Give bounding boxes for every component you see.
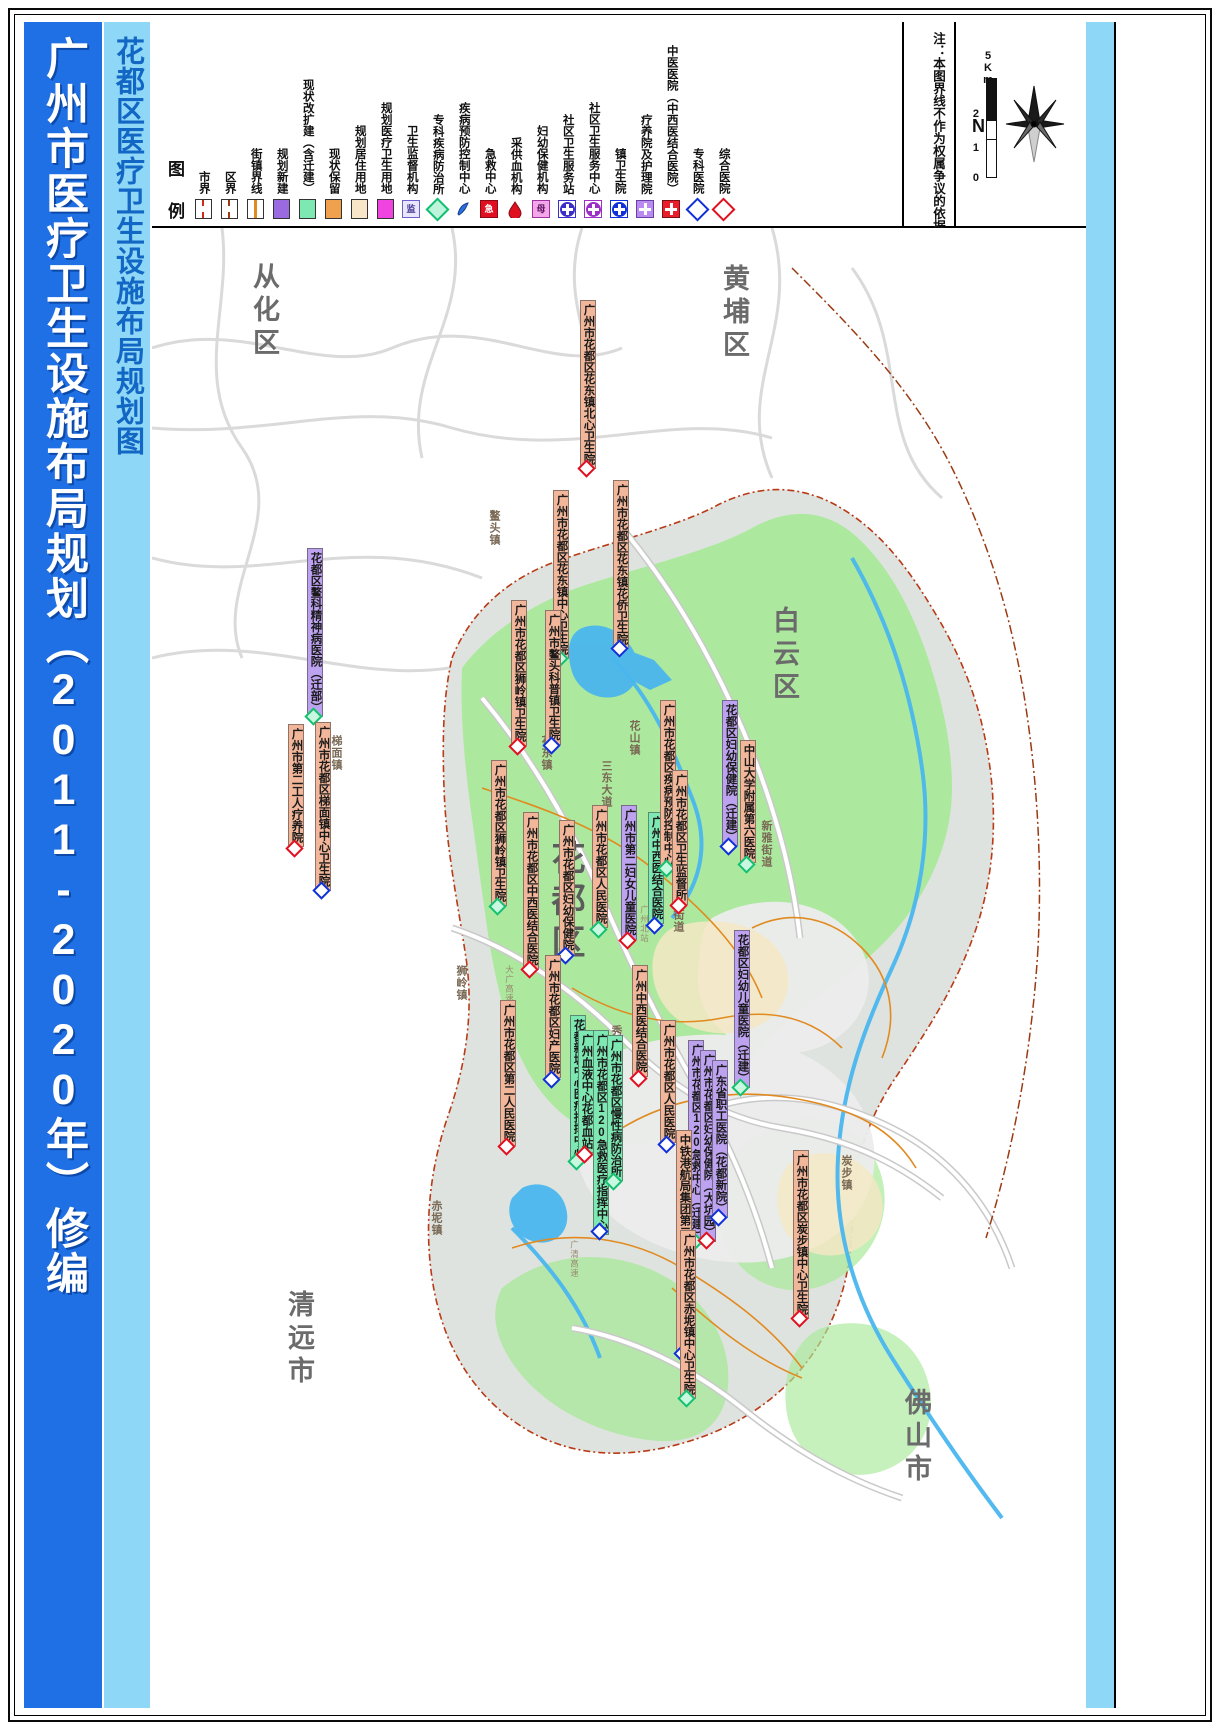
legend-item-label: 急救中心: [483, 148, 495, 194]
town-label: 梯面镇: [330, 735, 341, 771]
legend-items: 综合医院专科医院中医医院（中西医结合医院）疗养院及护理院镇卫生院社区卫生服务中心…: [190, 22, 736, 220]
scale-tick-0: 0: [973, 172, 979, 184]
compass-north-label: N: [972, 116, 985, 137]
legend-item-label: 规划医疗卫生用地: [379, 102, 391, 194]
legend-item-label: 区界: [223, 171, 235, 194]
map-base-graphic: [152, 228, 1086, 1708]
facility-label[interactable]: 中山大学附属第六医院: [740, 740, 756, 863]
legend-item[interactable]: 区界: [216, 22, 242, 220]
legend-item[interactable]: 规划居住用地: [346, 22, 372, 220]
legend-item-label: 市界: [197, 171, 209, 194]
facility-label[interactable]: 广州市花都区花东镇北心卫生院: [580, 300, 596, 469]
legend-item[interactable]: 街镇界线: [242, 22, 268, 220]
facility-marker-icon[interactable]: [591, 1223, 605, 1237]
legend-item-label: 专科疾病防治所: [431, 114, 443, 195]
legend-item[interactable]: 专科疾病防治所: [424, 22, 450, 220]
town-label: 炭步镇: [840, 1155, 851, 1191]
legend-item[interactable]: 综合医院: [710, 22, 736, 220]
ambulance-red-icon: 急: [478, 198, 500, 220]
facility-label[interactable]: 广州市花都区妇幼保健院: [559, 820, 575, 955]
legend-item-label: 疗养院及护理院: [639, 114, 651, 195]
facility-marker-icon[interactable]: [630, 1070, 644, 1084]
map-canvas[interactable]: 从化区黄埔区白云区清远市佛山市花都区鳌头镇花东镇狮岭镇梯面镇赤坭镇炭步镇花山镇新…: [152, 228, 1088, 1708]
facility-label[interactable]: 广州市花都区花东镇花侨卫生院: [613, 480, 629, 649]
facility-label[interactable]: 花都区鳌科精神病医院（迁部）: [307, 548, 323, 717]
facility-label[interactable]: 广州市花都区狮岭镇卫生院: [511, 600, 527, 746]
square-pink-mother-icon: 母: [530, 198, 552, 220]
town-label: 狮岭镇: [455, 965, 466, 1001]
page-title: 广州市医疗卫生设施布局规划（2011-2020年）修编: [42, 22, 85, 1296]
poster-subtitle-band: 花都区医疗卫生设施布局规划图: [104, 22, 150, 1708]
town-label: 赤坭镇: [430, 1200, 441, 1236]
facility-marker-icon[interactable]: [313, 882, 327, 896]
facility-marker-icon[interactable]: [590, 921, 604, 935]
swatch-orange-icon: [322, 198, 344, 220]
swatch-cream-icon: [348, 198, 370, 220]
facility-label[interactable]: 广州市花都区第二人民医院: [500, 1000, 516, 1146]
legend-item-label: 规划居住用地: [353, 125, 365, 194]
legend-item-label: 镇卫生院: [613, 148, 625, 194]
legend-panel: 图 例 综合医院专科医院中医医院（中西医结合医院）疗养院及护理院镇卫生院社区卫生…: [152, 22, 904, 228]
facility-marker-icon[interactable]: [305, 708, 319, 722]
facility-label[interactable]: 广州市花都区妇产医院: [545, 955, 561, 1078]
scale-track: [986, 78, 997, 178]
legend-item-label: 中医医院（中西医结合医院）: [665, 45, 677, 195]
legend-item-label: 妇幼保健机构: [535, 125, 547, 194]
diamond-red-icon: [712, 198, 734, 220]
legend-item[interactable]: 妇幼保健机构母: [528, 22, 554, 220]
disclaimer-note: 注：本图界线不作为权属争议的依据。: [932, 32, 945, 245]
legend-item-label: 卫生监督机构: [405, 125, 417, 194]
page-subtitle: 花都区医疗卫生设施布局规划图: [113, 22, 142, 456]
legend-heading: 图 例: [162, 160, 187, 222]
neighbor-district-label: 佛山市: [902, 1388, 929, 1487]
legend-item-label: 疾病预防控制中心: [457, 102, 469, 194]
legend-item[interactable]: 疗养院及护理院: [632, 22, 658, 220]
facility-label[interactable]: 广州市第二工人疗养院: [288, 724, 304, 847]
cdc-blue-icon: [452, 198, 474, 220]
facility-marker-icon[interactable]: [658, 1136, 672, 1150]
facility-marker-icon[interactable]: [710, 1209, 724, 1223]
diamond-blue-icon: [686, 198, 708, 220]
line-dashdot-red-icon: [192, 198, 214, 220]
square-purple-cross-icon: [634, 198, 656, 220]
circle-purple-cross-icon: [582, 198, 604, 220]
facility-label[interactable]: 广州市花都区梯面镇中心卫生院: [315, 722, 331, 891]
neighbor-district-label: 清远市: [285, 1290, 312, 1389]
note-panel: 注：本图界线不作为权属争议的依据。: [904, 22, 956, 228]
facility-marker-icon[interactable]: [678, 1390, 692, 1404]
blood-red-icon: [504, 198, 526, 220]
facility-marker-icon[interactable]: [578, 460, 592, 474]
legend-item[interactable]: 社区卫生服务中心: [580, 22, 606, 220]
compass-rose: N: [1000, 78, 1070, 170]
facility-marker-icon[interactable]: [543, 1071, 557, 1085]
town-label: 三东大道: [600, 760, 611, 808]
facility-label[interactable]: 广州市花都区慢性病防治所: [607, 1035, 623, 1181]
facility-label[interactable]: 广州市花都区中西医结合医院: [523, 812, 539, 970]
legend-item[interactable]: 疾病预防控制中心: [450, 22, 476, 220]
scale-mid: [987, 120, 996, 140]
facility-label[interactable]: 花都区妇幼保健院（迁建）: [722, 700, 738, 846]
neighbor-district-label: 白云区: [770, 606, 797, 705]
legend-item[interactable]: 专科医院: [684, 22, 710, 220]
facility-marker-icon[interactable]: [286, 840, 300, 854]
facility-marker-icon[interactable]: [732, 1079, 746, 1093]
legend-item-label: 现状保留: [327, 148, 339, 194]
facility-marker-icon[interactable]: [543, 737, 557, 751]
facility-marker-icon[interactable]: [670, 897, 684, 911]
facility-label[interactable]: 广州市花都区人民医院: [660, 1020, 676, 1143]
swatch-purple-icon: [270, 198, 292, 220]
legend-item[interactable]: 中医医院（中西医结合医院）: [658, 22, 684, 220]
legend-item[interactable]: 现状保留: [320, 22, 346, 220]
town-label: 新雅街道: [760, 820, 771, 868]
legend-item[interactable]: 卫生监督机构监: [398, 22, 424, 220]
facility-label[interactable]: 广州市花都区卫生监督所: [672, 770, 688, 905]
facility-marker-icon[interactable]: [509, 738, 523, 752]
legend-item[interactable]: 社区卫生服务站: [554, 22, 580, 220]
facility-marker-icon[interactable]: [619, 932, 633, 946]
road-label: 广清高速: [570, 1240, 579, 1278]
facility-label[interactable]: 广州中西医结合医院: [632, 965, 648, 1077]
neighbor-district-label: 黄埔区: [720, 264, 747, 363]
compass-needle-icon: [1000, 78, 1070, 170]
legend-item-label: 采供血机构: [509, 137, 521, 195]
legend-item[interactable]: 镇卫生院: [606, 22, 632, 220]
facility-label[interactable]: 广州市花都区狮岭镇卫生院: [491, 760, 507, 906]
legend-item[interactable]: 现状改扩建（含迁建）: [294, 22, 320, 220]
town-label: 鳌头镇: [488, 510, 499, 546]
facility-label[interactable]: 广州血液中心花都血站: [578, 1030, 594, 1153]
square-supervise-icon: 监: [400, 198, 422, 220]
line-orange-icon: [244, 198, 266, 220]
legend-item-label: 社区卫生服务站: [561, 114, 573, 195]
legend-item-label: 专科医院: [691, 148, 703, 194]
facility-marker-icon[interactable]: [576, 1146, 590, 1160]
facility-marker-icon[interactable]: [605, 1173, 619, 1187]
legend-item[interactable]: 规划医疗卫生用地: [372, 22, 398, 220]
facility-marker-icon[interactable]: [489, 898, 503, 912]
facility-label[interactable]: 广州市花都区赤坭镇中心卫生院: [680, 1230, 696, 1399]
legend-item-label: 规划新建: [275, 148, 287, 194]
facility-label[interactable]: 广州市鳌头科普镇卫生院: [545, 610, 561, 745]
scale-tick-1: 1: [973, 142, 979, 154]
facility-marker-icon[interactable]: [720, 838, 734, 852]
circle-darkblue-cross-icon: [556, 198, 578, 220]
facility-marker-icon[interactable]: [611, 640, 625, 654]
neighbor-district-label: 从化区: [250, 262, 277, 361]
swatch-magenta-icon: [374, 198, 396, 220]
facility-label[interactable]: 花都区妇幼儿童医院（迁建）: [734, 930, 750, 1088]
line-dashdot-brown-icon: [218, 198, 240, 220]
legend-item[interactable]: 市界: [190, 22, 216, 220]
facility-label[interactable]: 广州市第二妇女儿童医院: [621, 805, 637, 940]
swatch-teal-icon: [296, 198, 318, 220]
facility-marker-icon[interactable]: [521, 961, 535, 975]
circle-blue-cross-icon: [608, 198, 630, 220]
road-label: 大广高速: [505, 965, 514, 1003]
facility-marker-icon[interactable]: [698, 1232, 712, 1246]
facility-marker-icon[interactable]: [791, 1310, 805, 1324]
map-poster: 广州市医疗卫生设施布局规划（2011-2020年）修编 花都区医疗卫生设施布局规…: [0, 0, 1228, 1736]
square-red-cross-icon: [660, 198, 682, 220]
compass-scale-panel: 5Km 0 1 2 N: [956, 22, 1086, 228]
town-label: 花山镇: [628, 720, 639, 756]
right-accent-strip: [1086, 22, 1114, 1708]
right-margin-strip: [1114, 22, 1192, 1708]
legend-item-label: 综合医院: [717, 148, 729, 194]
legend-item[interactable]: 采供血机构: [502, 22, 528, 220]
facility-label[interactable]: 广东省职工医院（花都新院）: [712, 1060, 728, 1218]
diamond-green-icon: [426, 198, 448, 220]
legend-item[interactable]: 急救中心急: [476, 22, 502, 220]
legend-item-label: 社区卫生服务中心: [587, 102, 599, 194]
legend-item-label: 街镇界线: [249, 148, 261, 194]
facility-label[interactable]: 广州市花都区人民医院: [592, 805, 608, 928]
facility-marker-icon[interactable]: [658, 860, 672, 874]
facility-marker-icon[interactable]: [738, 856, 752, 870]
facility-label[interactable]: 广州市花都区炭步镇中心卫生院: [793, 1150, 809, 1319]
legend-item[interactable]: 规划新建: [268, 22, 294, 220]
facility-marker-icon[interactable]: [646, 917, 660, 931]
legend-item-label: 现状改扩建（含迁建）: [301, 79, 313, 194]
facility-marker-icon[interactable]: [498, 1138, 512, 1152]
poster-title-band: 广州市医疗卫生设施布局规划（2011-2020年）修编: [24, 22, 102, 1708]
scale-fill: [987, 79, 996, 120]
